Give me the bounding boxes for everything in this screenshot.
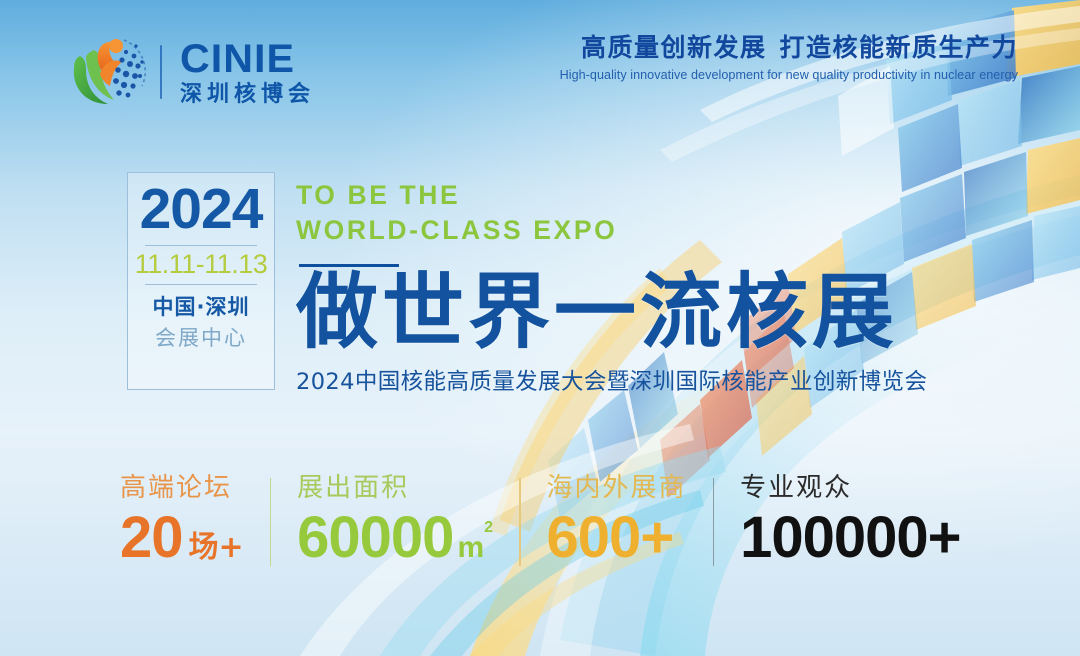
headline-en-line1: TO BE THE bbox=[296, 178, 927, 213]
stat-unit-exponent: 2 bbox=[484, 519, 493, 536]
slogan-en: High-quality innovative development for … bbox=[560, 68, 1018, 82]
stat-divider-1 bbox=[270, 478, 272, 566]
poster-header: CINIE 深圳核博会 高质量创新发展打造核能新质生产力 High-qualit… bbox=[0, 0, 1080, 120]
event-city: 中国·深圳 bbox=[128, 294, 274, 320]
stat-value: 600+ bbox=[547, 509, 687, 567]
headline-en-line2: WORLD-CLASS EXPO bbox=[296, 213, 927, 248]
stat-value: 20 场+ bbox=[120, 509, 244, 567]
event-venue: 会展中心 bbox=[128, 325, 274, 351]
logo-divider bbox=[160, 45, 162, 99]
event-year: 2024 bbox=[128, 182, 274, 238]
headline-subtitle-cn: 2024中国核能高质量发展大会暨深圳国际核能产业创新博览会 bbox=[296, 364, 927, 396]
headline-block: TO BE THE WORLD-CLASS EXPO 做世界一流核展 2024中… bbox=[296, 178, 927, 396]
stat-suffix: 场+ bbox=[189, 533, 244, 563]
slogan-cn: 高质量创新发展打造核能新质生产力 bbox=[560, 34, 1018, 63]
stat-number: 60000 bbox=[297, 509, 453, 567]
stat-item-visitors: 专业观众 100000+ bbox=[740, 474, 960, 567]
headline-title-cn: 做世界一流核展 bbox=[296, 270, 927, 357]
slogan-block: 高质量创新发展打造核能新质生产力 High-quality innovative… bbox=[560, 34, 1018, 82]
stat-item-area: 展出面积 60000 m2 bbox=[297, 474, 493, 567]
stat-label: 高端论坛 bbox=[120, 474, 244, 503]
stat-unit-base: m bbox=[457, 531, 484, 564]
stat-divider-3 bbox=[713, 478, 715, 566]
cinie-emblem-icon bbox=[64, 32, 148, 112]
brand-logo[interactable]: CINIE 深圳核博会 bbox=[64, 32, 315, 112]
event-dates: 11.11-11.13 bbox=[128, 246, 274, 282]
poster-banner: CINIE 深圳核博会 高质量创新发展打造核能新质生产力 High-qualit… bbox=[0, 0, 1080, 656]
stat-label: 展出面积 bbox=[297, 474, 493, 503]
brand-wordmark: CINIE 深圳核博会 bbox=[180, 39, 315, 106]
slogan-cn-part1: 高质量创新发展 bbox=[581, 33, 767, 62]
stat-label: 海内外展商 bbox=[547, 474, 687, 503]
stat-item-exhibitors: 海内外展商 600+ bbox=[547, 474, 687, 567]
stats-row: 高端论坛 20 场+ 展出面积 60000 m2 海内外展商 600+ 专业观众 bbox=[120, 474, 960, 567]
stat-value: 60000 m2 bbox=[297, 509, 493, 567]
slogan-cn-part2: 打造核能新质生产力 bbox=[779, 33, 1018, 62]
stat-item-forum: 高端论坛 20 场+ bbox=[120, 474, 244, 567]
stat-number: 20 bbox=[120, 509, 183, 567]
stat-label: 专业观众 bbox=[740, 474, 960, 503]
stat-number: 600+ bbox=[547, 509, 674, 567]
event-date-box: 2024 11.11-11.13 中国·深圳 会展中心 bbox=[127, 172, 275, 390]
brand-name-cn: 深圳核博会 bbox=[180, 84, 315, 106]
brand-name: CINIE bbox=[180, 39, 295, 79]
stat-value: 100000+ bbox=[740, 509, 960, 567]
stat-divider-2 bbox=[519, 478, 521, 566]
stat-unit: m2 bbox=[457, 533, 493, 563]
stat-number: 100000+ bbox=[740, 509, 960, 567]
datebox-rule-bottom bbox=[145, 284, 257, 285]
